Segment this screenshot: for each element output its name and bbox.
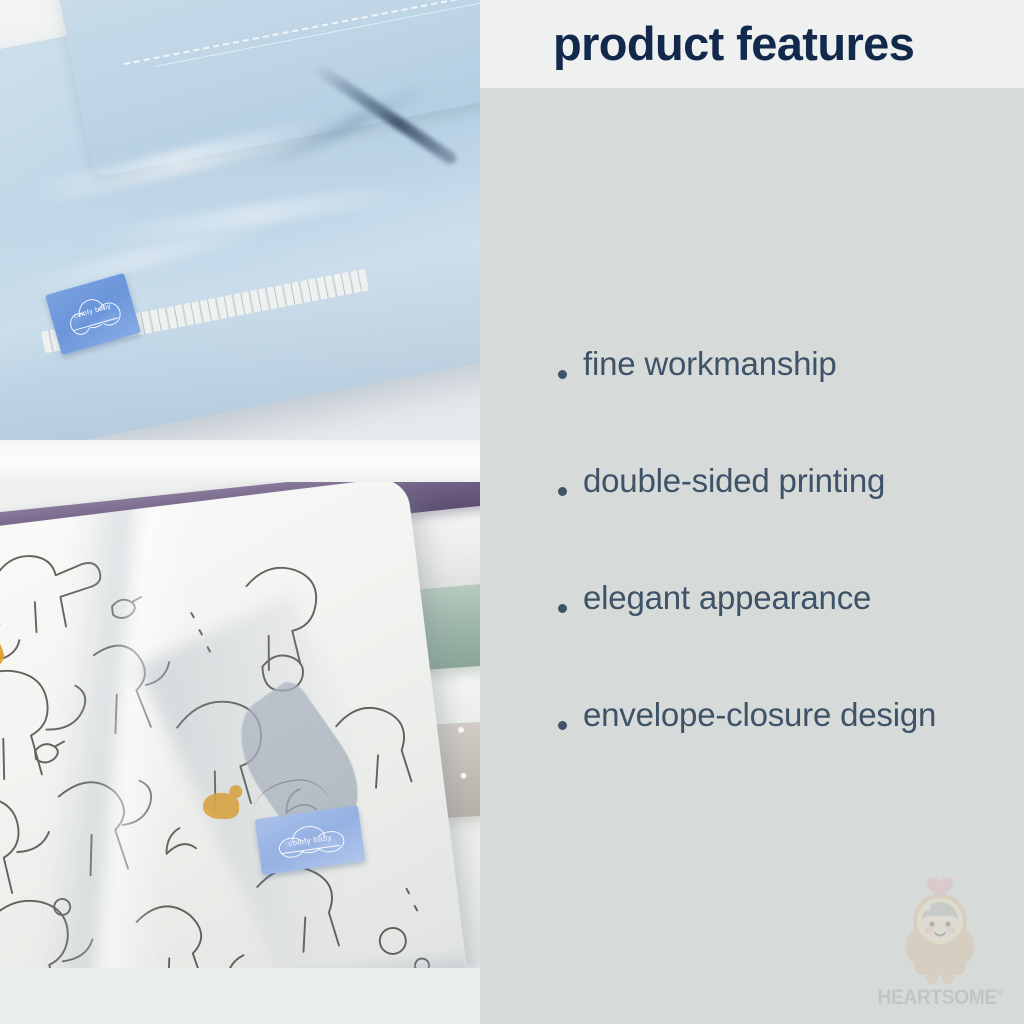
bullet-icon — [558, 604, 567, 613]
feature-item-envelope-closure-design: envelope-closure design — [480, 696, 1024, 813]
animal-print-pillowcase-stack-photo: comfy baby — [0, 482, 480, 968]
feature-label: envelope-closure design — [583, 696, 936, 734]
feature-item-elegant-appearance: elegant appearance — [480, 579, 1024, 696]
feature-label: fine workmanship — [583, 345, 837, 383]
feature-label: elegant appearance — [583, 579, 871, 617]
baby-mascot-icon — [870, 866, 1010, 986]
feature-item-double-sided-printing: double-sided printing — [480, 462, 1024, 579]
product-feature-banner: comfy baby — [0, 0, 1024, 1024]
bullet-icon — [558, 721, 567, 730]
bullet-icon — [558, 370, 567, 379]
photo-seam — [0, 440, 480, 482]
feature-label: double-sided printing — [583, 462, 885, 500]
watermark-brand-name: HEARTSOME — [878, 986, 997, 1009]
watermark-brand-text: HEARTSOME® — [876, 986, 1005, 1010]
registered-mark: ® — [997, 988, 1003, 998]
animal-print-pillowcase — [0, 482, 470, 968]
bullet-icon — [558, 487, 567, 496]
page-title: product features — [553, 17, 914, 71]
brand-watermark: HEARTSOME® — [870, 866, 1010, 1016]
photo-bottom-strip — [0, 968, 480, 1024]
feature-item-workmanship: fine workmanship — [480, 345, 1024, 462]
feature-text-panel: product features fine workmanship double… — [480, 0, 1024, 1024]
feature-list: fine workmanship double-sided printing e… — [480, 345, 1024, 813]
blue-pillowcase-photo: comfy baby — [0, 0, 480, 478]
photo-column: comfy baby — [0, 0, 480, 1024]
